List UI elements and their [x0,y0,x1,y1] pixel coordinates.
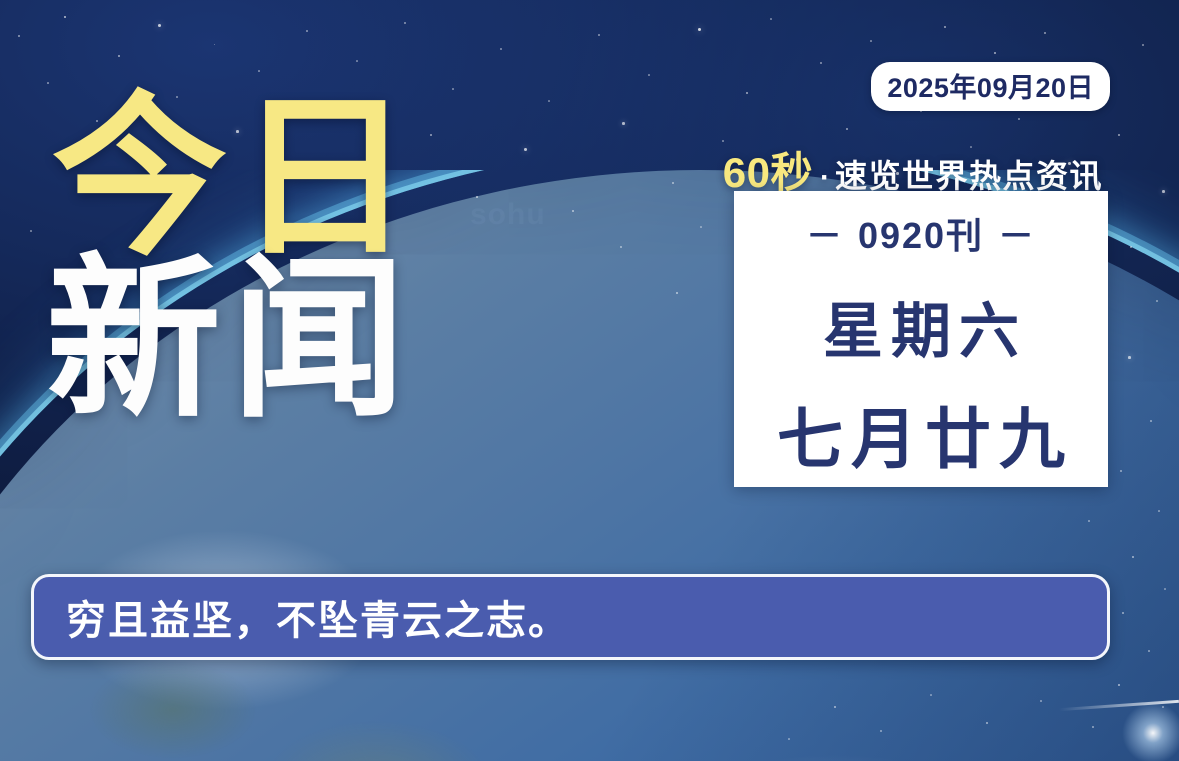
headline-separator-icon: · [813,161,835,195]
star-icon [770,18,772,20]
star-icon [1130,246,1132,248]
star-icon [1150,420,1152,422]
star-icon [1044,32,1046,34]
star-icon [622,122,625,125]
star-icon [1164,588,1166,590]
info-card: －0920刊－ 星期六 七月廿九 [734,191,1108,487]
star-icon [452,88,454,90]
issue-line: －0920刊－ [792,207,1050,259]
star-icon [572,210,574,212]
star-icon [118,55,120,57]
star-icon [880,730,882,732]
issue-dash-right: － [984,215,1050,256]
star-icon [214,44,215,45]
star-icon [1128,356,1131,359]
star-icon [746,92,748,94]
quote-bar: 穷且益坚，不坠青云之志。 [31,574,1110,660]
star-icon [1088,520,1090,522]
star-icon [548,100,550,102]
star-icon [158,24,161,27]
title-line-today: 今日 [52,95,422,263]
star-icon [788,738,790,740]
star-icon [698,28,701,31]
star-icon [47,82,49,84]
star-icon [1040,700,1042,702]
issue-number: 0920刊 [858,215,984,256]
star-icon [700,226,702,228]
news-poster: sohu 今日 新闻 2025年09月20日 60秒 · 速览世界热点资讯 －0… [0,0,1179,761]
star-icon [620,246,622,248]
watermark: sohu [470,198,546,232]
star-icon [30,230,32,232]
star-icon [870,40,872,42]
star-icon [820,62,822,64]
star-icon [430,134,432,136]
star-icon [500,48,502,50]
star-icon [524,148,527,151]
star-icon [1132,556,1134,558]
lunar-date-label: 七月廿九 [769,386,1073,482]
date-badge: 2025年09月20日 [871,62,1110,111]
star-icon [648,74,650,76]
star-icon [306,30,308,32]
poster-title: 今日 新闻 [52,95,422,425]
weekday-label: 星期六 [815,283,1027,370]
issue-dash-left: － [792,215,858,256]
star-icon [1120,470,1122,472]
star-icon [258,70,260,72]
star-icon [986,722,988,724]
star-icon [834,706,836,708]
star-icon [1118,684,1120,686]
lens-flare-icon [1121,701,1179,761]
star-icon [1158,510,1160,512]
title-line-news: 新闻 [46,257,422,425]
star-icon [1162,190,1165,193]
star-icon [672,182,674,184]
star-icon [1156,300,1158,302]
star-icon [1018,118,1020,120]
star-icon [64,16,66,18]
quote-text: 穷且益坚，不坠青云之志。 [34,588,570,646]
star-icon [994,52,996,54]
star-icon [944,26,946,28]
star-icon [1142,44,1144,46]
star-icon [356,60,358,62]
star-icon [1148,650,1150,652]
star-icon [1118,134,1120,136]
star-icon [1122,612,1124,614]
star-icon [930,694,932,696]
star-icon [1092,726,1094,728]
star-icon [404,22,406,24]
star-icon [598,34,600,36]
star-icon [846,128,848,130]
star-icon [676,292,678,294]
star-icon [18,35,20,37]
